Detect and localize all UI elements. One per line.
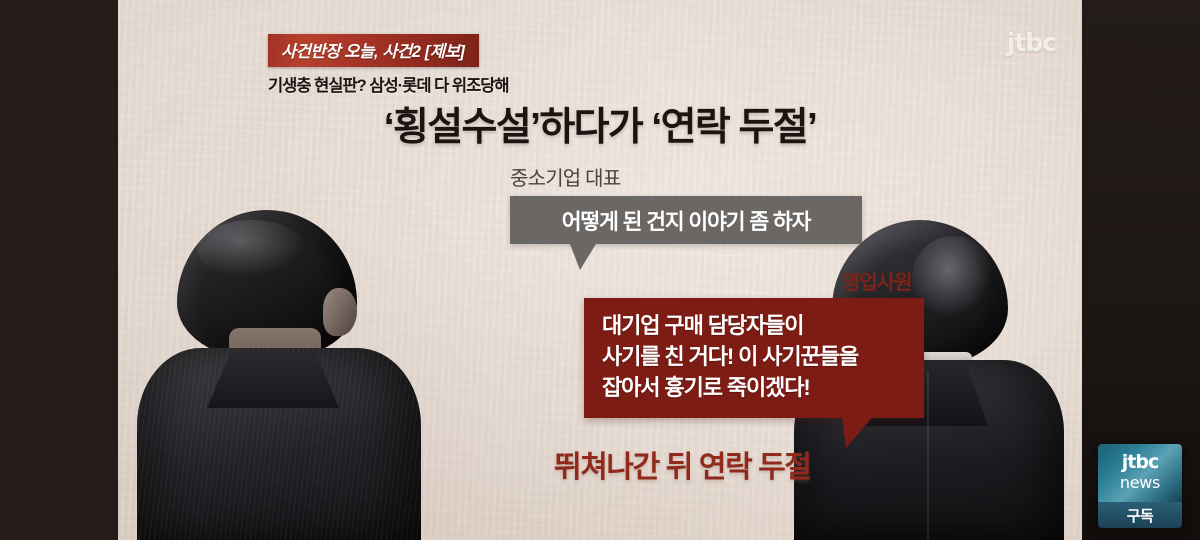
- speaker-label-sme-ceo: 중소기업 대표: [510, 162, 620, 191]
- program-banner-subtitle: 기생충 현실판? 삼성·롯데 다 위조당해: [268, 72, 509, 96]
- suit-seam-right: [927, 372, 929, 540]
- jtbc-watermark-icon: jtbc: [1007, 28, 1056, 57]
- program-banner: 사건반장 오늘, 사건2 [제보] 기생충 현실판? 삼성·롯데 다 위조당해: [268, 34, 509, 96]
- photo-man-back-left: [137, 210, 421, 540]
- speech-bubble-salesperson-line-2: 사기를 친 거다! 이 사기꾼들을: [602, 341, 924, 372]
- subscribe-action-bar[interactable]: 구독: [1098, 502, 1182, 528]
- speech-bubble-salesperson-line-3: 잡아서 흉기로 죽이겠다!: [602, 372, 924, 403]
- video-content-area: jtbc 사건반장 오늘, 사건2 [제보] 기생충 현실판? 삼성·롯데 다 …: [118, 0, 1082, 540]
- headline-text: ‘횡설수설’하다가 ‘연락 두절’: [118, 96, 1082, 152]
- hair-highlight-left: [197, 220, 307, 278]
- speaker-label-salesperson: 영업사원: [842, 266, 912, 295]
- program-banner-chip: 사건반장 오늘, 사건2 [제보]: [268, 34, 479, 67]
- subscribe-logo-news-label: news: [1120, 473, 1160, 492]
- speech-bubble-sme-ceo-line-1: 어떻게 된 건지 이야기 좀 하자: [562, 205, 811, 236]
- jtbc-news-subscribe-button[interactable]: jtbc news 구독: [1098, 444, 1182, 528]
- letterbox-bar-left: [0, 0, 118, 540]
- bottom-caption-text: 뛰쳐나간 뒤 연락 두절: [554, 442, 811, 486]
- speech-bubble-salesperson-line-1: 대기업 구매 담당자들이: [602, 310, 924, 341]
- speech-bubble-tail-left: [570, 244, 596, 270]
- screenshot-frame: jtbc 사건반장 오늘, 사건2 [제보] 기생충 현실판? 삼성·롯데 다 …: [0, 0, 1200, 540]
- speech-bubble-salesperson: 대기업 구매 담당자들이 사기를 친 거다! 이 사기꾼들을 잡아서 흉기로 죽…: [584, 298, 924, 418]
- hair-highlight-right: [912, 236, 994, 320]
- subscribe-action-label: 구독: [1127, 505, 1154, 526]
- speech-bubble-sme-ceo: 어떻게 된 건지 이야기 좀 하자: [510, 196, 862, 244]
- subscribe-logo-top: jtbc news: [1098, 444, 1182, 502]
- program-banner-label: 사건반장 오늘, 사건2 [제보]: [281, 43, 465, 61]
- ear-left: [323, 288, 357, 336]
- jtbc-logo-icon: jtbc: [1122, 453, 1158, 472]
